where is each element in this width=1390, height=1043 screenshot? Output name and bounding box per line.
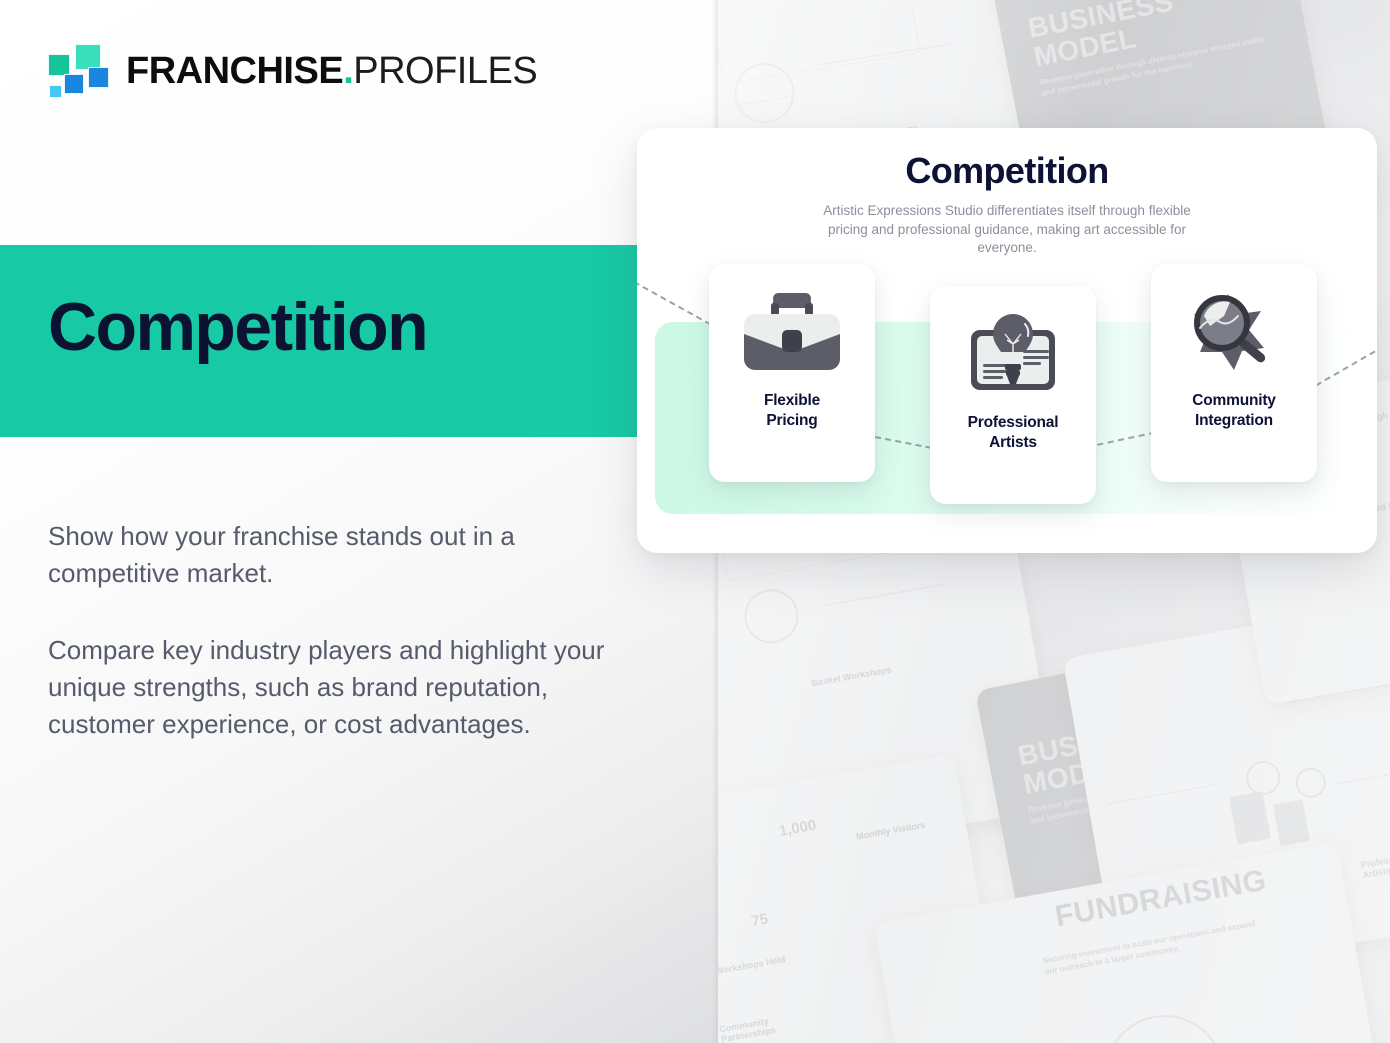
- card-subtitle: Artistic Expressions Studio differentiat…: [807, 202, 1207, 258]
- slide-canvas: Drop-in Fees Session Workshops Commissio…: [0, 0, 1390, 1043]
- preview-card: Competition Artistic Expressions Studio …: [637, 128, 1377, 553]
- ghost-metric-value: 75: [750, 911, 769, 931]
- ghost-subtitle: Revenue generation through diverse strea…: [1028, 760, 1268, 827]
- ghost-title: COMPETITION: [1302, 603, 1390, 662]
- ghost-label: Monthly Visitors: [855, 820, 926, 842]
- lightbulb-card-icon: [961, 312, 1065, 401]
- page-title: Competition: [48, 293, 427, 361]
- ghost-slide-metrics-bottom: 1,000 Monthly Visitors 75 Workshops Held…: [718, 754, 1016, 1043]
- brand-logo[interactable]: FRANCHISE.PROFILES: [48, 44, 537, 98]
- feature-tile-professional-artists[interactable]: Professional Artists: [930, 286, 1096, 504]
- ghost-slide-business-model-lower: BUSINESS MODEL Revenue generation throug…: [975, 634, 1317, 937]
- ghost-label: Flexible Pricing: [1235, 848, 1306, 870]
- briefcase-icon: [740, 290, 844, 379]
- card-title: Competition: [637, 150, 1377, 192]
- feature-tile-label: Community Integration: [1192, 391, 1275, 431]
- feature-tile-flexible-pricing[interactable]: Flexible Pricing: [709, 264, 875, 482]
- ghost-subtitle: Securing investment to scale our operati…: [1042, 917, 1272, 978]
- feature-tile-label: Flexible Pricing: [764, 391, 820, 431]
- brand-name-bold: FRANCHISE: [126, 50, 343, 92]
- ghost-slide-competition: COMPETITION Securing investment to scale…: [1063, 586, 1390, 984]
- ghost-metric-value: 1,000: [778, 817, 818, 840]
- brand-wordmark: FRANCHISE.PROFILES: [126, 52, 537, 90]
- ghost-label: Professional Artists: [1360, 846, 1390, 880]
- description-block: Show how your franchise stands out in a …: [48, 518, 624, 743]
- logo-squares-icon: [48, 44, 106, 98]
- magnifier-star-icon: [1182, 290, 1286, 379]
- brand-name-dot: .: [343, 50, 353, 92]
- ghost-title: BUSINESS MODEL: [1015, 696, 1262, 799]
- brand-name-light: PROFILES: [353, 50, 537, 92]
- ghost-label: Community Partnerships: [719, 1009, 811, 1043]
- ghost-title: BUSINESS MODEL: [1026, 0, 1277, 72]
- description-paragraph-1: Show how your franchise stands out in a …: [48, 518, 624, 592]
- section-banner: Competition: [0, 245, 718, 437]
- ghost-subtitle: Securing investment to scale our operati…: [1280, 653, 1390, 707]
- ghost-title: FUNDRAISING: [1053, 865, 1269, 933]
- ghost-slide-fundraising: FUNDRAISING Securing investment to scale…: [874, 842, 1390, 1043]
- description-paragraph-2: Compare key industry players and highlig…: [48, 632, 624, 743]
- feature-tile-label: Professional Artists: [968, 413, 1059, 453]
- ghost-label: Workshops Held: [718, 954, 786, 976]
- ghost-label: Basket Workshops: [811, 664, 892, 688]
- feature-tile-community-integration[interactable]: Community Integration: [1151, 264, 1317, 482]
- ghost-subtitle: Revenue generation through diverse strea…: [1038, 32, 1282, 100]
